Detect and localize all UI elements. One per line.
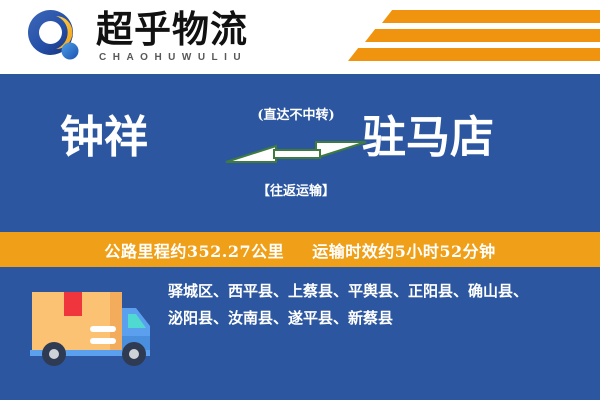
round-trip-note: 【往返运输】 [226,180,366,199]
coverage-line-1: 驿城区、西平县、上蔡县、平舆县、正阳县、确山县、 [168,278,586,305]
stripe-1 [382,10,600,23]
info-bar-content: 公路里程约352.27公里 运输时效约5小时52分钟 [104,238,495,262]
stripe-3 [348,48,600,61]
stripe-2 [365,29,600,42]
circle-crescent-logo-icon [26,8,86,68]
logistics-route-banner: 超乎物流 CHAOHUWULIU 钟祥 (直达不中转) 【往返运输】 [0,0,600,400]
delivery-truck-icon [24,282,156,368]
coverage-line-2: 泌阳县、汝南县、遂平县、新蔡县 [168,305,586,332]
orange-speed-stripes-icon [310,6,600,68]
direct-route-note: (直达不中转) [226,104,366,123]
duration-text: 运输时效约5小时52分钟 [312,242,495,261]
route-info-bar: 公路里程约352.27公里 运输时效约5小时52分钟 [0,232,600,267]
origin-city: 钟祥 [60,110,148,166]
banner-header: 超乎物流 CHAOHUWULIU [0,0,600,74]
bidirectional-arrow-icon [224,132,368,172]
route-arrow-group: (直达不中转) 【往返运输】 [226,104,366,202]
coverage-area-list: 驿城区、西平县、上蔡县、平舆县、正阳县、确山县、 泌阳县、汝南县、遂平县、新蔡县 [168,278,586,332]
destination-city: 驻马店 [362,110,494,166]
route-panel: 钟祥 (直达不中转) 【往返运输】 驻马店 [0,74,600,232]
brand-name-en: CHAOHUWULIU [99,52,247,63]
distance-text: 公路里程约352.27公里 [104,242,284,261]
brand-name-cn: 超乎物流 [96,7,248,51]
